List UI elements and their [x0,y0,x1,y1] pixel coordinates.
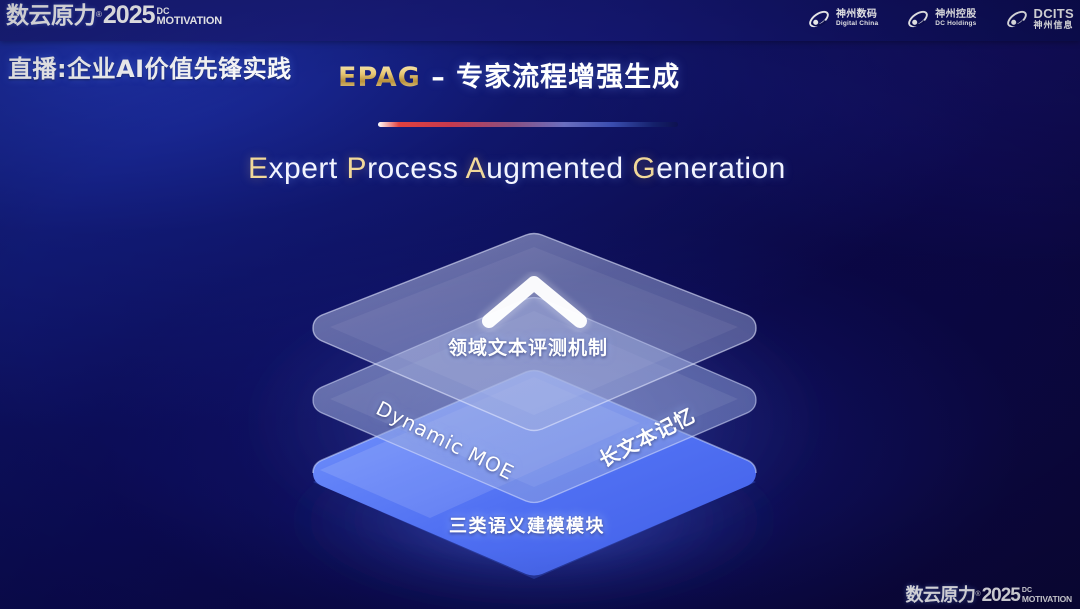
middle-layer-left-label: Dynamic MOE [372,396,518,485]
subtitle-rest-generation: eneration [656,152,786,185]
slide-title-dash: – [421,62,456,93]
watermark-registered-mark-icon: ® [975,591,980,598]
watermark-dc-motivation: DC MOTIVATION [1022,588,1072,605]
slide-subtitle: Expert Process Augmented Generation [248,152,786,186]
gradient-divider [378,122,678,127]
watermark-name-cn: 数云原力 [905,587,975,605]
partner-logo-dcits: DCITS 神州信息 [1005,7,1075,31]
top-layer-plate [313,234,756,431]
bottom-layer-plate [313,371,756,576]
top-layer-label: 领域文本评测机制 [448,333,608,360]
watermark-year: 2025 [982,586,1020,605]
subtitle-cap-a: A [466,152,487,185]
stack-ambient-glow [234,270,834,570]
subtitle-rest-expert: xpert [269,152,347,185]
watermark-motivation-label: MOTIVATION [1022,595,1072,603]
brand-logo-header: 数云原力 ® 2025 DC MOTIVATION [6,3,222,28]
middle-layer-reflection [318,404,534,497]
partner-name-en: Digital China [836,21,878,28]
partner-logo-dc-holdings: 神州控股 DC Holdings [906,7,976,31]
chevron-up-icon-glow [489,283,580,321]
bottom-layer-edge [313,386,756,579]
subtitle-cap-g: G [632,152,656,185]
stack-layer-bottom [274,371,794,609]
slide-title: EPAG – 专家流程增强生成 [338,55,680,94]
stack-layer-middle [313,298,756,503]
partner-name-en: DC Holdings [935,21,976,28]
bottom-layer-rim [313,371,756,474]
slide-title-cn: 专家流程增强生成 [456,62,680,93]
stack-layer-top [313,234,756,431]
brand-motivation-label: MOTIVATION [157,16,222,26]
subtitle-rest-process: rocess [367,152,466,185]
live-stream-title: 直播:企业AI价值先锋实践 [8,49,292,84]
swirl-logo-icon [1005,7,1029,31]
middle-layer-plate [313,298,756,503]
partner-logos: 神州数码 Digital China 神州控股 DC Holdings [807,7,1074,31]
brand-year: 2025 [103,3,155,28]
partner-name-cn: 神州信息 [1034,20,1075,31]
slide-title-acronym: EPAG [338,62,421,93]
swirl-logo-icon [906,7,930,31]
swirl-logo-icon [807,7,831,31]
bottom-layer-glow [274,425,794,609]
chevron-up-icon [489,283,580,321]
brand-dc-motivation: DC MOTIVATION [157,7,222,28]
subtitle-cap-e: E [248,152,269,185]
partner-text: 神州控股 DC Holdings [935,10,976,27]
middle-layer-sheen [330,311,738,487]
bottom-layer-label: 三类语义建模模块 [449,512,605,538]
subtitle-cap-p: P [347,152,368,185]
header-bar: 数云原力 ® 2025 DC MOTIVATION 神州数码 Digital C… [0,0,1080,41]
top-layer-sheen [330,247,738,415]
middle-layer-right-label: 长文本记忆 [593,399,700,473]
watermark-logo: 数云原力 ® 2025 DC MOTIVATION [905,586,1072,605]
bottom-layer-sheen [320,377,640,518]
slide-canvas: 数云原力 ® 2025 DC MOTIVATION 神州数码 Digital C… [0,0,1080,609]
subtitle-rest-augmented: ugmented [486,152,632,185]
brand-name-cn: 数云原力 [6,5,96,28]
partner-logo-digital-china: 神州数码 Digital China [807,7,878,31]
partner-text: DCITS 神州信息 [1034,7,1075,31]
partner-name-en: DCITS [1034,7,1075,20]
partner-text: 神州数码 Digital China [836,10,878,27]
registered-mark-icon: ® [96,11,102,19]
